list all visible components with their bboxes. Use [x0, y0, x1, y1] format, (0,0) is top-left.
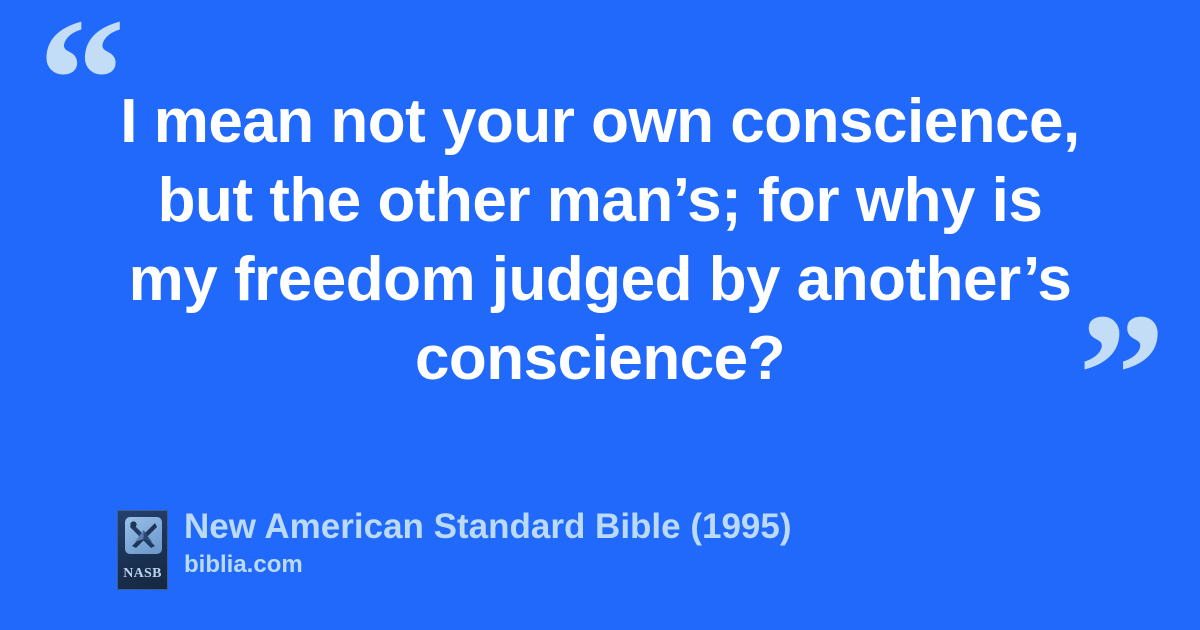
source-title: New American Standard Bible (1995): [184, 506, 792, 548]
quote-line: I mean not your own conscience,: [60, 82, 1140, 161]
nasb-crossed-sword-icon: [125, 517, 162, 554]
quote-line: conscience?: [60, 319, 1140, 398]
attribution: NASB New American Standard Bible (1995) …: [117, 506, 792, 590]
attribution-text: New American Standard Bible (1995) bibli…: [184, 506, 792, 580]
source-url[interactable]: biblia.com: [184, 550, 792, 580]
quote-line: but the other man’s; for why is: [60, 161, 1140, 240]
quote-line: my freedom judged by another’s: [60, 240, 1140, 319]
closing-quotation-mark-icon: ”: [1078, 287, 1166, 462]
nasb-logo: NASB: [117, 510, 168, 590]
nasb-logo-label: NASB: [118, 567, 167, 581]
bible-verse-quote-card: “ I mean not your own conscience, but th…: [0, 0, 1200, 630]
quote-text-block: I mean not your own conscience, but the …: [60, 82, 1140, 398]
